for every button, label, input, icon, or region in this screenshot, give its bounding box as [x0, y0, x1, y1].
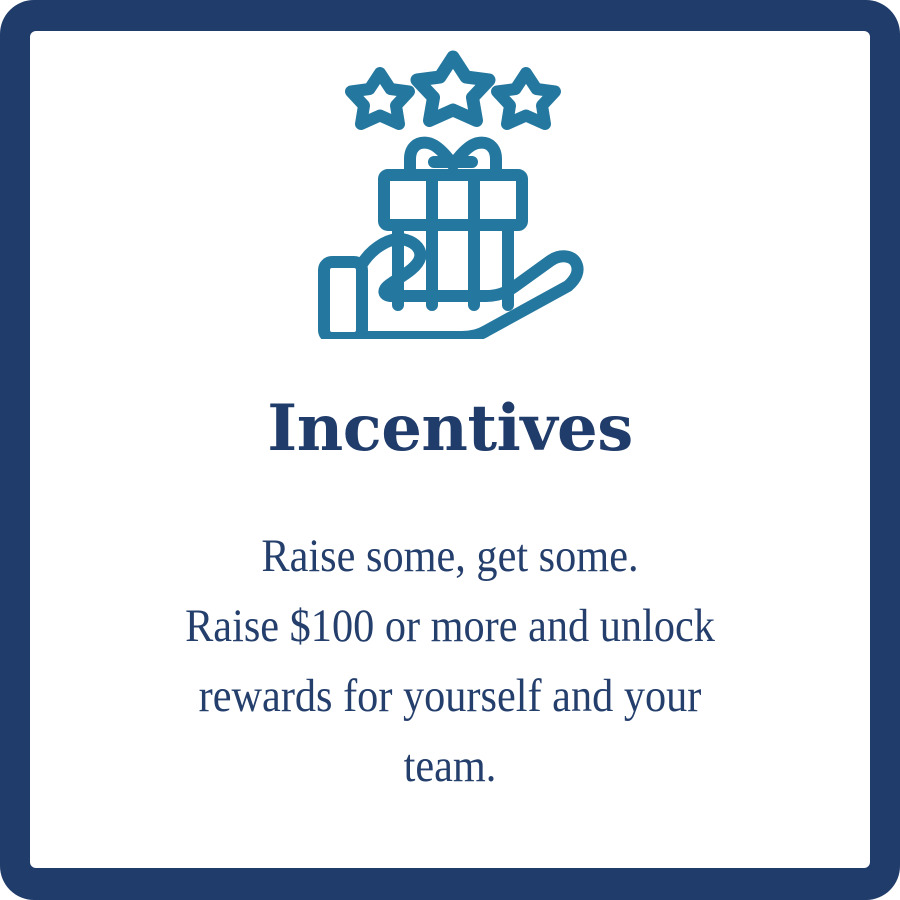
star-left-icon [351, 73, 409, 124]
card-description-line-1: Raise some, get some. [90, 521, 810, 591]
star-right-icon [497, 73, 555, 124]
card-title: Incentives [267, 397, 633, 461]
card-description-line-2: Raise $100 or more and unlock [90, 591, 810, 661]
hand-holding-gift-with-stars-icon [310, 49, 590, 339]
card-inner-panel: Incentives Raise some, get some. Raise $… [30, 31, 870, 868]
sleeve-cuff-icon [324, 262, 362, 338]
gift-lid-icon [384, 175, 522, 225]
star-center-icon [417, 57, 489, 121]
card-description-line-4: team. [90, 731, 810, 801]
incentives-card: Incentives Raise some, get some. Raise $… [0, 0, 900, 900]
card-description: Raise some, get some. Raise $100 or more… [90, 521, 810, 801]
card-description-line-3: rewards for yourself and your [90, 661, 810, 731]
